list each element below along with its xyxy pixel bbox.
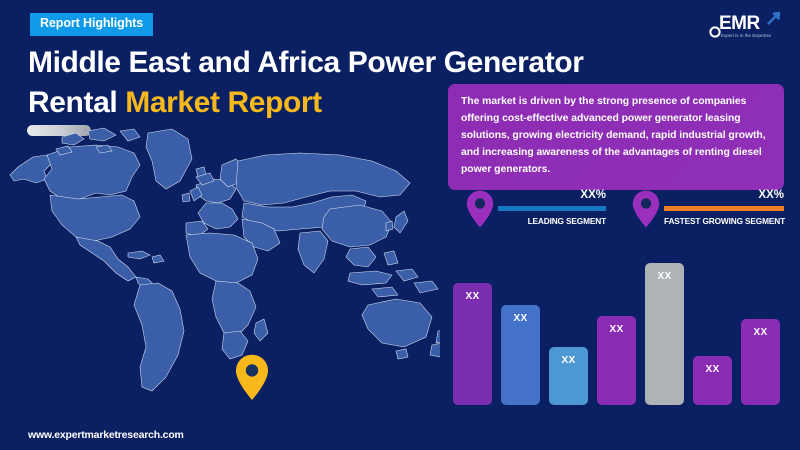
chart-bar: XX	[741, 319, 780, 405]
footer-website-url: www.expertmarketresearch.com	[28, 429, 184, 441]
market-bar-chart: XXXXXXXXXXXXXX	[444, 255, 792, 405]
map-pin-svg	[235, 354, 269, 401]
title-line-2-accent: Market Report	[125, 86, 322, 119]
title-line-1: Middle East and Africa Power Generator	[28, 46, 584, 79]
leading-segment-percent: XX%	[498, 190, 606, 206]
world-map	[0, 125, 440, 425]
chart-bar-label: XX	[706, 364, 720, 375]
leading-segment-pin-icon	[466, 190, 494, 228]
market-summary-callout: The market is driven by the strong prese…	[448, 84, 784, 190]
chart-bar-label: XX	[754, 327, 768, 338]
chart-bar: XX	[693, 356, 732, 405]
fastest-segment-bar	[664, 206, 784, 211]
chart-bar-label: XX	[514, 313, 528, 324]
title-line-2-plain: Rental	[28, 86, 125, 119]
segment-pin-svg	[632, 190, 660, 228]
chart-bar-label: XX	[658, 271, 672, 282]
segment-pin-svg	[466, 190, 494, 228]
fastest-segment-body: XX% FASTEST GROWING SEGMENT	[664, 190, 784, 226]
infographic-root: Report Highlights Middle East and Africa…	[0, 0, 800, 450]
fastest-segment-label: FASTEST GROWING SEGMENT	[664, 216, 784, 226]
leading-segment-bar	[498, 206, 606, 211]
chart-bar-label: XX	[610, 324, 624, 335]
map-location-pin-icon	[235, 354, 269, 401]
chart-bar: XX	[645, 263, 684, 405]
fastest-growing-segment-indicator: XX% FASTEST GROWING SEGMENT	[632, 190, 784, 246]
logo-tagline: Expert is in the Expertise	[721, 33, 771, 38]
chart-bar: XX	[597, 316, 636, 405]
leading-segment-label: LEADING SEGMENT	[498, 216, 606, 226]
chart-bar-label: XX	[562, 355, 576, 366]
fastest-segment-percent: XX%	[664, 190, 784, 206]
chart-bar: XX	[453, 283, 492, 405]
world-map-svg	[0, 125, 440, 425]
report-highlights-badge: Report Highlights	[30, 13, 153, 36]
leading-segment-body: XX% LEADING SEGMENT	[498, 190, 606, 226]
fastest-segment-pin-icon	[632, 190, 660, 228]
map-landmasses	[10, 128, 440, 391]
chart-bar-label: XX	[466, 291, 480, 302]
leading-segment-indicator: XX% LEADING SEGMENT	[466, 190, 606, 246]
emr-logo: EMR Expert is in the Expertise	[702, 10, 788, 44]
logo-wordmark: EMR	[719, 13, 760, 35]
chart-bar: XX	[501, 305, 540, 405]
chart-bar: XX	[549, 347, 588, 405]
